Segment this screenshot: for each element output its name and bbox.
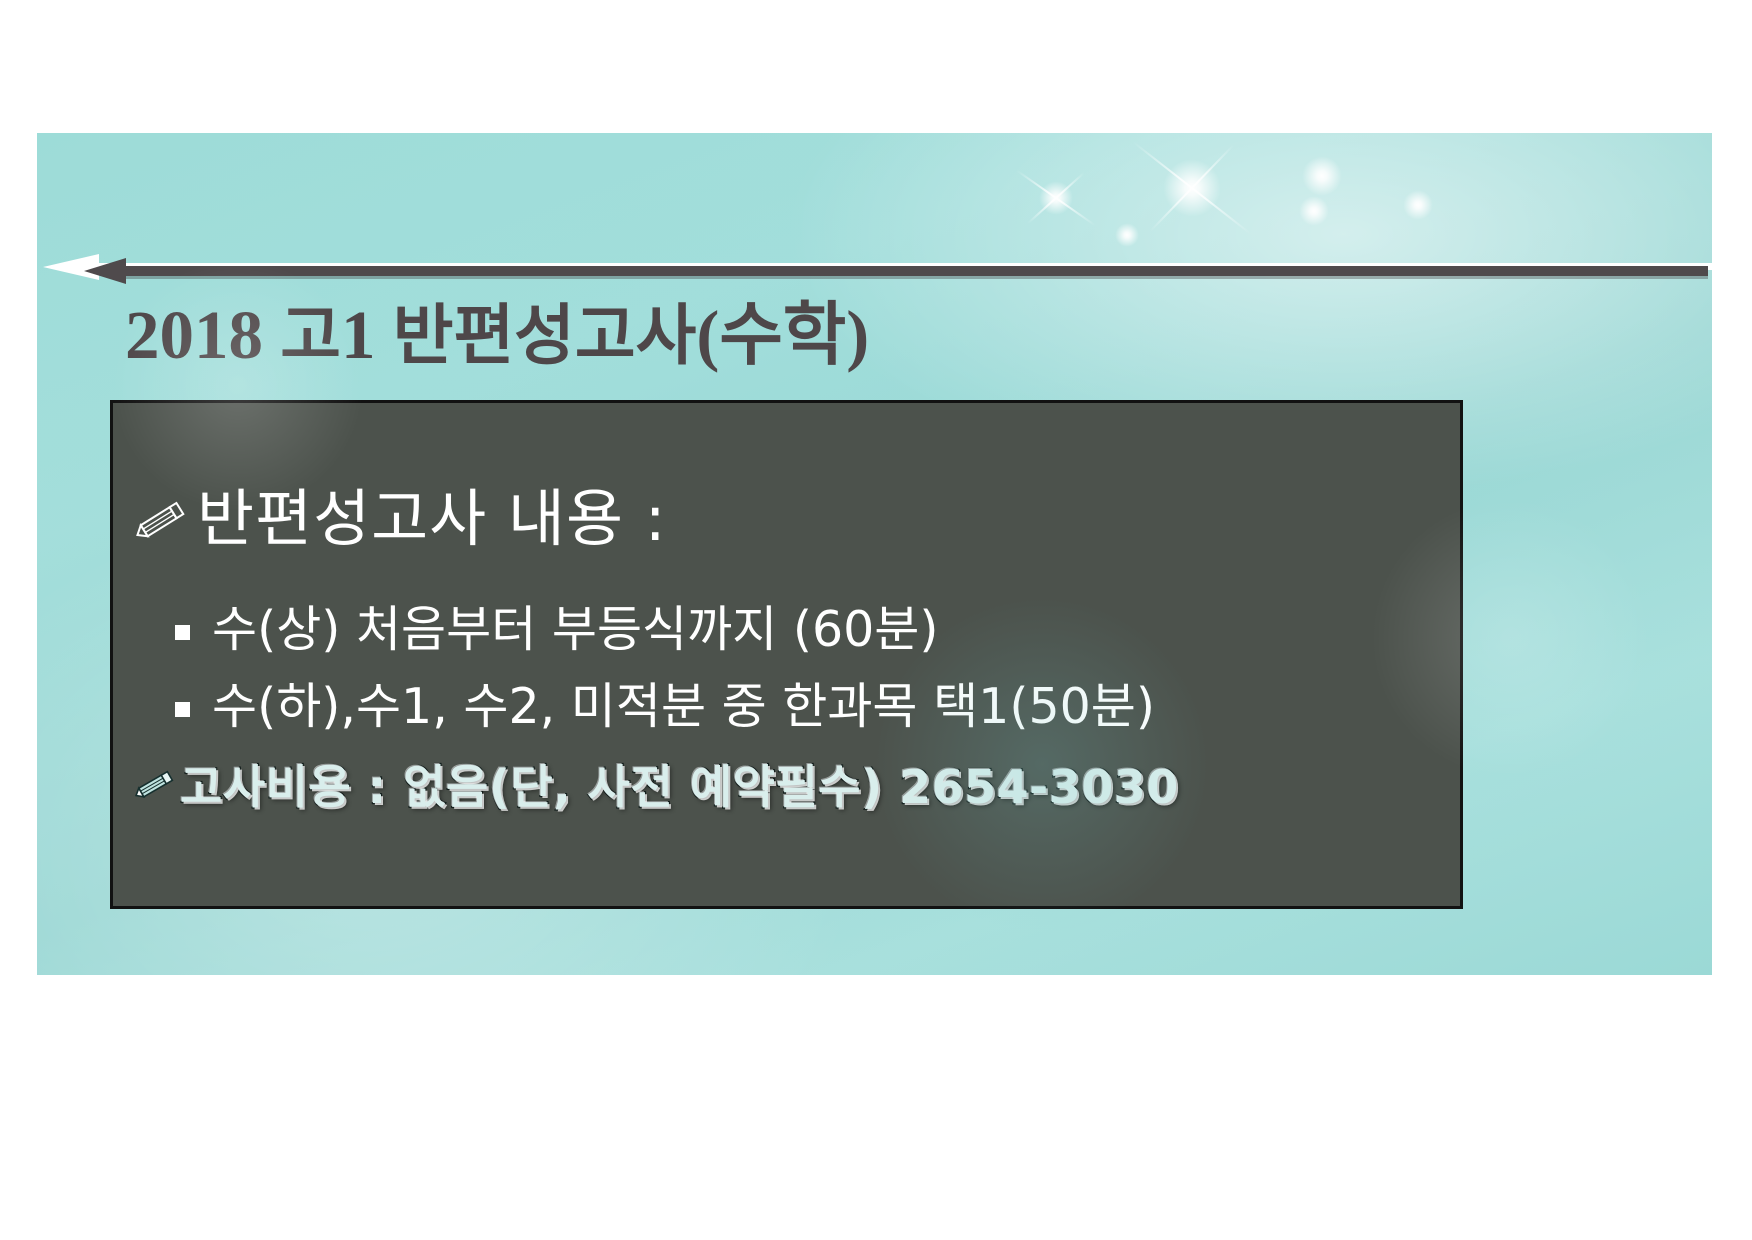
title-subject: 반편성고사	[393, 297, 697, 374]
divider-line	[115, 266, 1708, 276]
list-item: 수(상) 처음부터 부등식까지 (60분)	[175, 599, 1445, 662]
square-bullet-icon	[175, 702, 190, 717]
title-grade-number: 1	[341, 297, 376, 373]
double-arrow-divider	[37, 251, 1712, 285]
slide-title: 2018 고1 반편성고사(수학)	[125, 301, 869, 370]
content-footer-text: 고사비용 : 없음(단, 사전 예약필수) 2654-3030	[180, 751, 1179, 817]
title-year: 2018	[125, 297, 263, 373]
content-heading: 반편성고사 내용 :	[133, 488, 667, 550]
content-box: 반편성고사 내용 : 수(상) 처음부터 부등식까지 (60분) 수(하),수1…	[110, 400, 1463, 909]
pencil-icon	[133, 496, 195, 542]
content-footer: 고사비용 : 없음(단, 사전 예약필수) 2654-3030	[133, 751, 1179, 817]
list-item-label: 수(상) 처음부터 부등식까지 (60분)	[212, 599, 939, 662]
title-parenthetical: (수학)	[696, 297, 869, 373]
presentation-slide: 2018 고1 반편성고사(수학) 반편성고사 내용 : 수(상) 처음부터 부…	[37, 133, 1712, 975]
content-heading-text: 반편성고사 내용 :	[197, 488, 667, 550]
square-bullet-icon	[175, 625, 190, 640]
bullet-list: 수(상) 처음부터 부등식까지 (60분) 수(하),수1, 수2, 미적분 중…	[175, 599, 1445, 752]
list-item: 수(하),수1, 수2, 미적분 중 한과목 택1(50분)	[175, 676, 1445, 739]
list-item-label: 수(하),수1, 수2, 미적분 중 한과목 택1(50분)	[212, 676, 1155, 739]
title-grade-ko: 고	[280, 297, 341, 374]
pencil-icon	[133, 767, 179, 801]
divider-arrowhead-icon	[84, 258, 126, 284]
